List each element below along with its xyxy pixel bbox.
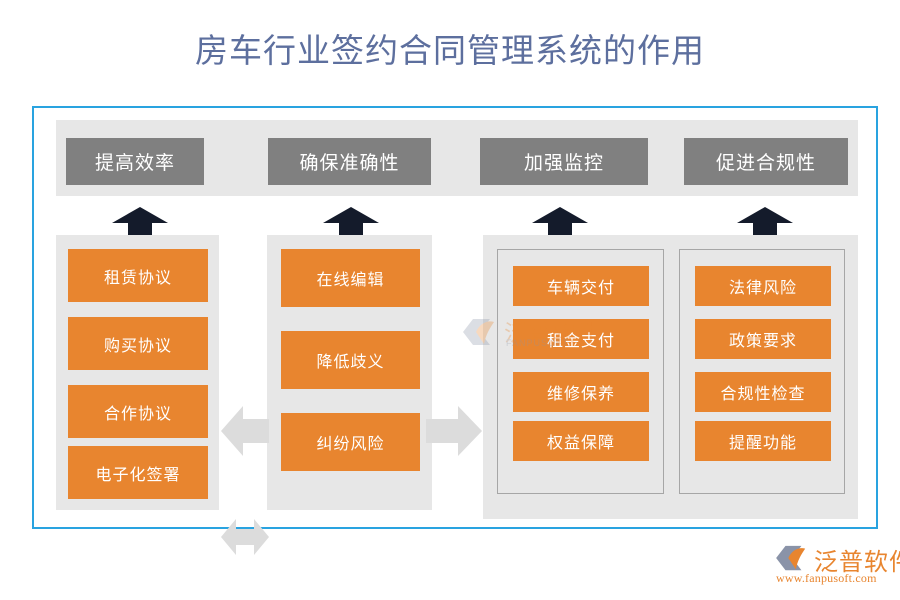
sub-panel-strengthen-monitoring: 车辆交付 租金支付 维修保养 权益保障	[497, 249, 664, 494]
header-box-strengthen-monitoring[interactable]: 加强监控	[480, 138, 648, 185]
item-box-policy-requirement[interactable]: 政策要求	[695, 319, 831, 359]
double-horizontal-arrow-icon	[221, 516, 269, 558]
diagram-frame: 提高效率 确保准确性 加强监控 促进合规性 租赁协议 购买协议 合作协议 电子化…	[32, 106, 878, 529]
brand-url: www.fanpusoft.com	[776, 571, 877, 586]
brand-logo: 泛普软件 www.fanpusoft.com	[770, 542, 892, 590]
header-box-improve-efficiency[interactable]: 提高效率	[66, 138, 204, 185]
item-box-reminder-function[interactable]: 提醒功能	[695, 421, 831, 461]
column-panel-improve-efficiency: 租赁协议 购买协议 合作协议 电子化签署	[56, 235, 219, 510]
header-band: 提高效率 确保准确性 加强监控 促进合规性	[56, 120, 858, 196]
item-box-rent-payment[interactable]: 租金支付	[513, 319, 649, 359]
item-box-vehicle-delivery[interactable]: 车辆交付	[513, 266, 649, 306]
item-box-maintenance-upkeep[interactable]: 维修保养	[513, 372, 649, 412]
item-box-lease-agreement[interactable]: 租赁协议	[68, 249, 208, 302]
item-box-cooperation-agreement[interactable]: 合作协议	[68, 385, 208, 438]
item-box-reduce-ambiguity[interactable]: 降低歧义	[281, 331, 420, 389]
item-box-online-editing[interactable]: 在线编辑	[281, 249, 420, 307]
item-box-compliance-check[interactable]: 合规性检查	[695, 372, 831, 412]
item-box-dispute-risk[interactable]: 纠纷风险	[281, 413, 420, 471]
right-arrow-icon	[426, 404, 482, 458]
sub-panel-promote-compliance: 法律风险 政策要求 合规性检查 提醒功能	[679, 249, 845, 494]
header-box-ensure-accuracy[interactable]: 确保准确性	[268, 138, 431, 185]
item-box-purchase-agreement[interactable]: 购买协议	[68, 317, 208, 370]
item-box-legal-risk[interactable]: 法律风险	[695, 266, 831, 306]
column-panel-monitoring-compliance: 车辆交付 租金支付 维修保养 权益保障 法律风险 政策要求 合规性检查 提醒功能	[483, 235, 858, 519]
header-box-promote-compliance[interactable]: 促进合规性	[684, 138, 848, 185]
item-box-electronic-signing[interactable]: 电子化签署	[68, 446, 208, 499]
page-title: 房车行业签约合同管理系统的作用	[0, 30, 900, 72]
column-panel-ensure-accuracy: 在线编辑 降低歧义 纠纷风险	[267, 235, 432, 510]
left-arrow-icon	[221, 404, 269, 458]
item-box-rights-protection[interactable]: 权益保障	[513, 421, 649, 461]
